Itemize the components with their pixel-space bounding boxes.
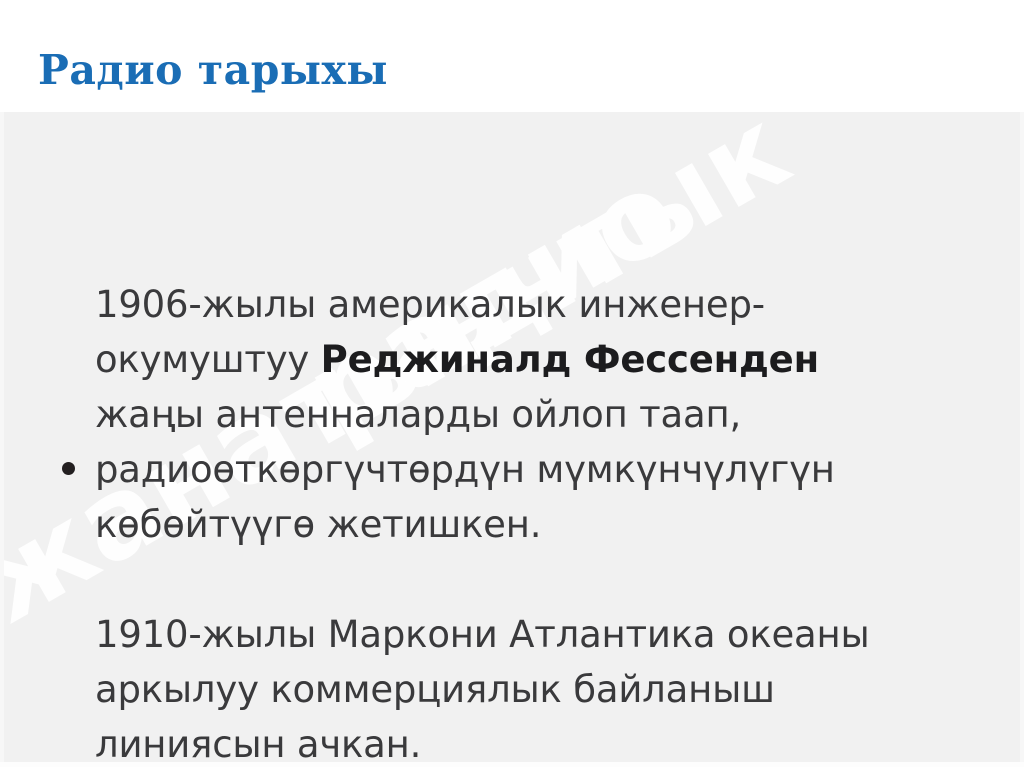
- title-band: Радио тарыхы: [0, 0, 1024, 112]
- presentation-slide: тынчтык жана радио 1906-жылы америкалык …: [0, 0, 1024, 767]
- bullet-marker-icon: [62, 462, 75, 475]
- slide-content-area: тынчтык жана радио 1906-жылы америкалык …: [0, 112, 1024, 767]
- slide-edge-bottom: [0, 762, 1024, 767]
- bullet-text-2: 1910-жылы Маркони Атлантика океаны аркыл…: [95, 607, 905, 767]
- bullet-text-1: 1906-жылы америкалык инженер-окумуштуу Р…: [95, 277, 905, 552]
- slide-edge-left: [0, 112, 4, 767]
- page-title: Радио тарыхы: [38, 50, 388, 91]
- slide-edge-right: [1020, 112, 1024, 767]
